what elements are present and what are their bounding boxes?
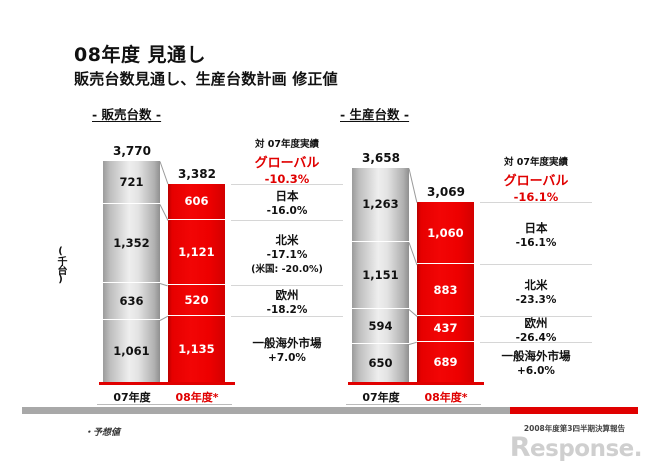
bar-segment-value: 594 [368,319,392,333]
bar-segment-日本: 1,263 [352,168,409,242]
footnote: ・予想値 [84,425,120,438]
bar-segment-北米: 883 [417,264,474,316]
legend-header: 対 07年度実績グローバル-16.1% [480,154,592,204]
bar-segment-一般海外市場: 1,061 [103,320,160,382]
bar-segment-value: 1,135 [178,342,214,356]
legend-row-北米: 北米-23.3% [480,264,592,317]
bar-segment-欧州: 594 [352,309,409,344]
legend-region-name: 日本 [525,220,548,236]
chart-production: 1,2631,1515946503,6581,0608834376893,069… [248,0,548,460]
bar-segment-value: 1,121 [178,245,214,259]
chart-baseline [99,382,235,385]
logo-initial: R [510,432,530,463]
bar-segment-value: 650 [368,356,392,370]
bar-segment-value: 606 [184,194,208,208]
footer-divider-accent [510,407,638,414]
bar-segment-北米: 1,151 [352,242,409,309]
bar-segment-日本: 1,060 [417,202,474,264]
bar-segment-value: 1,352 [113,236,149,250]
bar-segment-北米: 1,121 [168,220,225,286]
x-axis-rule [346,404,481,405]
bar-total-label: 3,770 [97,144,167,158]
bar-segment-value: 1,061 [113,344,149,358]
x-axis-tick-label: 07年度 [346,389,416,405]
segment-connector-line [160,283,168,286]
legend-region-name: 北米 [525,277,548,293]
bar-segment-value: 636 [119,294,143,308]
bar-segment-value: 883 [433,283,457,297]
bar-segment-value: 520 [184,293,208,307]
bar-08-forecast: 6061,1215201,135 [168,184,225,382]
legend-region-pct: +6.0% [517,365,555,377]
bar-segment-value: 1,151 [362,268,398,282]
segment-connector-line [409,342,417,345]
bar-segment-北米: 1,352 [103,204,160,283]
bar-07-actual: 1,2631,151594650 [352,168,409,382]
legend-region-pct: -16.1% [516,237,557,249]
bar-segment-value: 437 [433,321,457,335]
legend-region-name: 一般海外市場 [502,348,571,364]
legend-global-label: グローバル [480,170,592,189]
response-logo: Response. [510,432,642,463]
bar-total-label: 3,382 [162,167,232,181]
legend-row-日本: 日本-16.1% [480,202,592,265]
x-axis-tick-label: 08年度* [411,389,481,405]
footer-divider-bar [22,407,638,414]
bar-08-forecast: 1,060883437689 [417,202,474,382]
bar-segment-欧州: 437 [417,316,474,342]
bar-07-actual: 7211,3526361,061 [103,161,160,382]
x-axis-rule [97,404,232,405]
logo-text: esponse. [530,436,642,462]
x-axis-tick-label: 08年度* [162,389,232,405]
x-axis-tick-label: 07年度 [97,389,167,405]
bar-segment-value: 721 [119,175,143,189]
bar-segment-一般海外市場: 689 [417,342,474,382]
segment-connector-line [160,316,168,321]
legend-row-一般海外市場: 一般海外市場+6.0% [480,342,592,383]
legend-row-欧州: 欧州-26.4% [480,316,592,343]
legend-region-name: 欧州 [525,315,548,331]
bar-segment-日本: 721 [103,161,160,203]
bar-segment-欧州: 636 [103,283,160,320]
bar-total-label: 3,069 [411,185,481,199]
bar-segment-一般海外市場: 650 [352,344,409,382]
bar-segment-value: 689 [433,355,457,369]
bar-segment-欧州: 520 [168,285,225,315]
bar-segment-value: 1,060 [427,226,463,240]
chart-baseline [348,382,484,385]
bar-segment-一般海外市場: 1,135 [168,316,225,382]
bar-segment-value: 1,263 [362,197,398,211]
legend-region-pct: -23.3% [516,294,557,306]
legend-compare-label: 対 07年度実績 [480,154,592,168]
bar-segment-日本: 606 [168,184,225,219]
bar-total-label: 3,658 [346,151,416,165]
slide-canvas: 08年度 見通し 販売台数見通し、生産台数計画 修正値 - 販売台数 - - 生… [0,0,660,460]
